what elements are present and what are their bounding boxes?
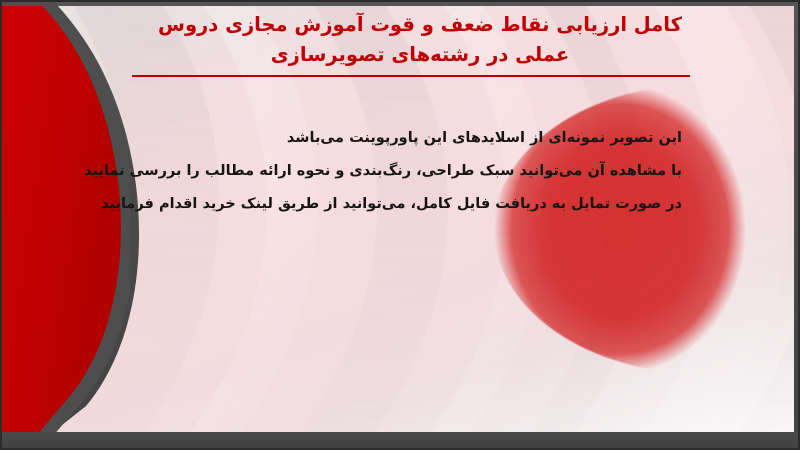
body-line-1: این تصویر نمونه‌ای از اسلایدهای این پاور…: [122, 122, 682, 155]
body-line-3: در صورت تمایل به دریافت فایل کامل، می‌تو…: [122, 188, 682, 221]
slide-title-line-1: کامل ارزیابی نقاط ضعف و قوت آموزش مجازی …: [120, 10, 720, 40]
slide-title: کامل ارزیابی نقاط ضعف و قوت آموزش مجازی …: [120, 10, 720, 69]
body-line-2: با مشاهده آن می‌توانید سبک طراحی، رنگ‌بن…: [122, 155, 682, 188]
presentation-slide: کامل ارزیابی نقاط ضعف و قوت آموزش مجازی …: [0, 0, 800, 450]
slide-body-text: این تصویر نمونه‌ای از اسلایدهای این پاور…: [122, 122, 682, 221]
red-curved-ellipse-left: [0, 0, 130, 450]
title-underline: [132, 75, 690, 77]
slide-title-line-2: عملی در رشته‌های تصویرسازی: [120, 40, 720, 70]
slide-bottom-band: [0, 432, 800, 450]
